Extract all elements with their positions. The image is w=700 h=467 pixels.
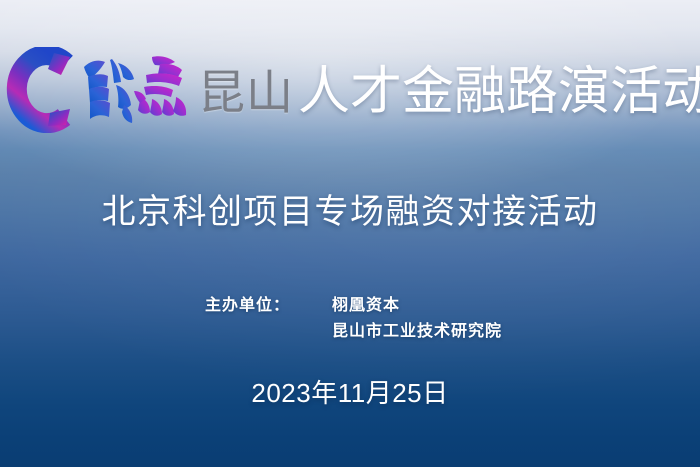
- page-title: 北京科创项目专场融资对接活动: [0, 192, 700, 233]
- organizer-name-list: 栩凰资本 昆山市工业技术研究院: [332, 293, 502, 345]
- organizer-name: 栩凰资本: [332, 293, 502, 319]
- brand-tagline-text: 人才金融路演活动: [298, 66, 700, 118]
- organizer-block: 主办单位： 栩凰资本 昆山市工业技术研究院: [205, 293, 502, 345]
- c-swoosh-logo-icon: [4, 47, 76, 133]
- header-brand-lockup: 昆山 人才金融路演活动: [0, 40, 700, 140]
- organizer-label: 主办单位：: [205, 293, 290, 319]
- brand-script-chuangying: [74, 47, 196, 133]
- event-poster: 昆山 人才金融路演活动 北京科创项目专场融资对接活动 主办单位： 栩凰资本 昆山…: [0, 0, 700, 467]
- organizer-name: 昆山市工业技术研究院: [332, 319, 502, 345]
- event-date: 2023年11月25日: [0, 378, 700, 409]
- brand-city-text: 昆山: [198, 69, 294, 116]
